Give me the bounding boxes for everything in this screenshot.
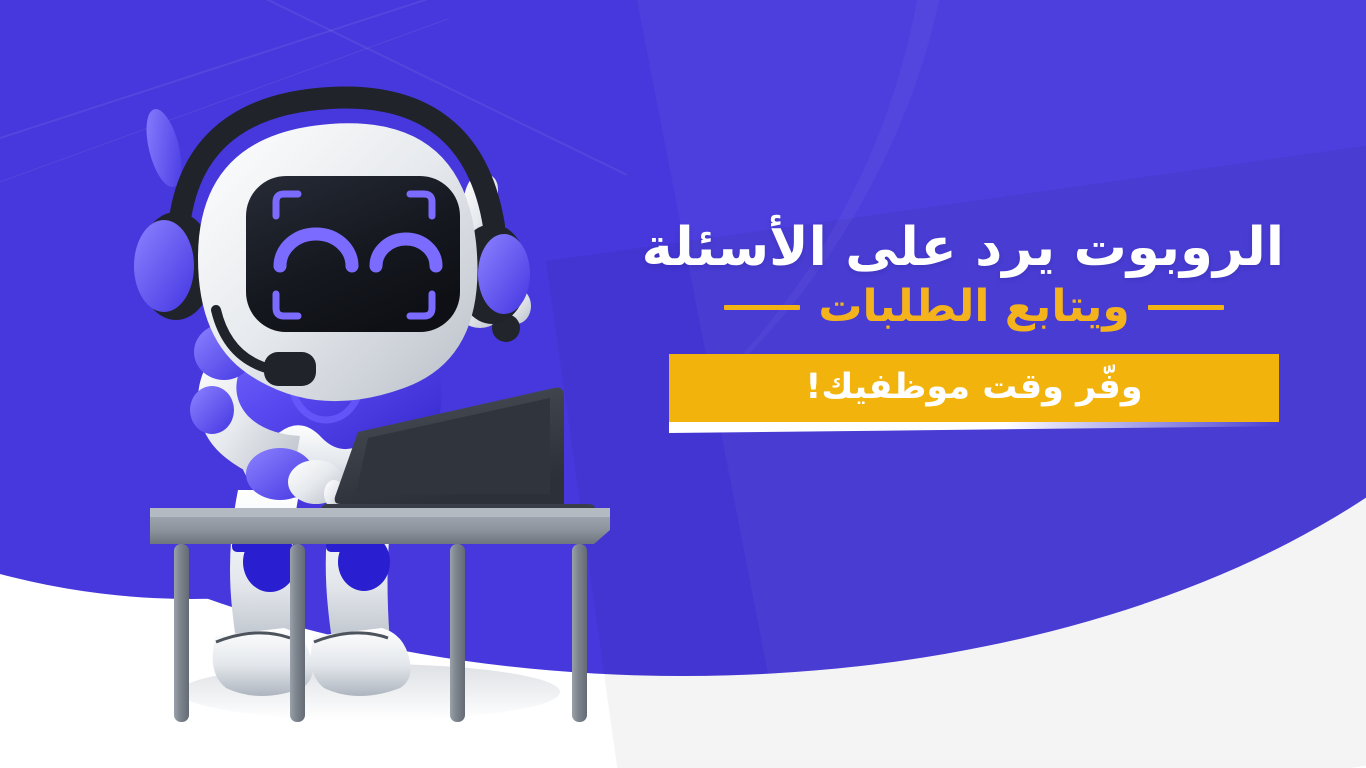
cta-button[interactable]: وفّر وقت موظفيك! [669,354,1279,422]
banner-root: الروبوت يرد على الأسئلة ويتابع الطلبات و… [0,0,1366,768]
microphone [264,352,316,386]
subline: ويتابع الطلبات [818,283,1129,331]
subline-row: ويتابع الطلبات [664,283,1284,331]
ear-cup-right [478,234,530,314]
cta-wrapper: وفّر وقت موظفيك! [664,354,1284,433]
headline: الروبوت يرد على الأسئلة [664,218,1284,277]
desk-leg-2 [290,544,305,722]
robot-illustration [120,70,640,730]
desk-leg-1 [174,544,189,722]
desk-leg-3 [450,544,465,722]
dash-left-decoration [1148,305,1224,310]
robot-head [134,98,530,402]
dash-right-decoration [724,305,800,310]
copy-block: الروبوت يرد على الأسئلة ويتابع الطلبات و… [664,218,1284,433]
ear-cup-left [134,220,194,312]
desk-leg-4 [572,544,587,722]
cta-shadow-accent [669,422,1279,433]
